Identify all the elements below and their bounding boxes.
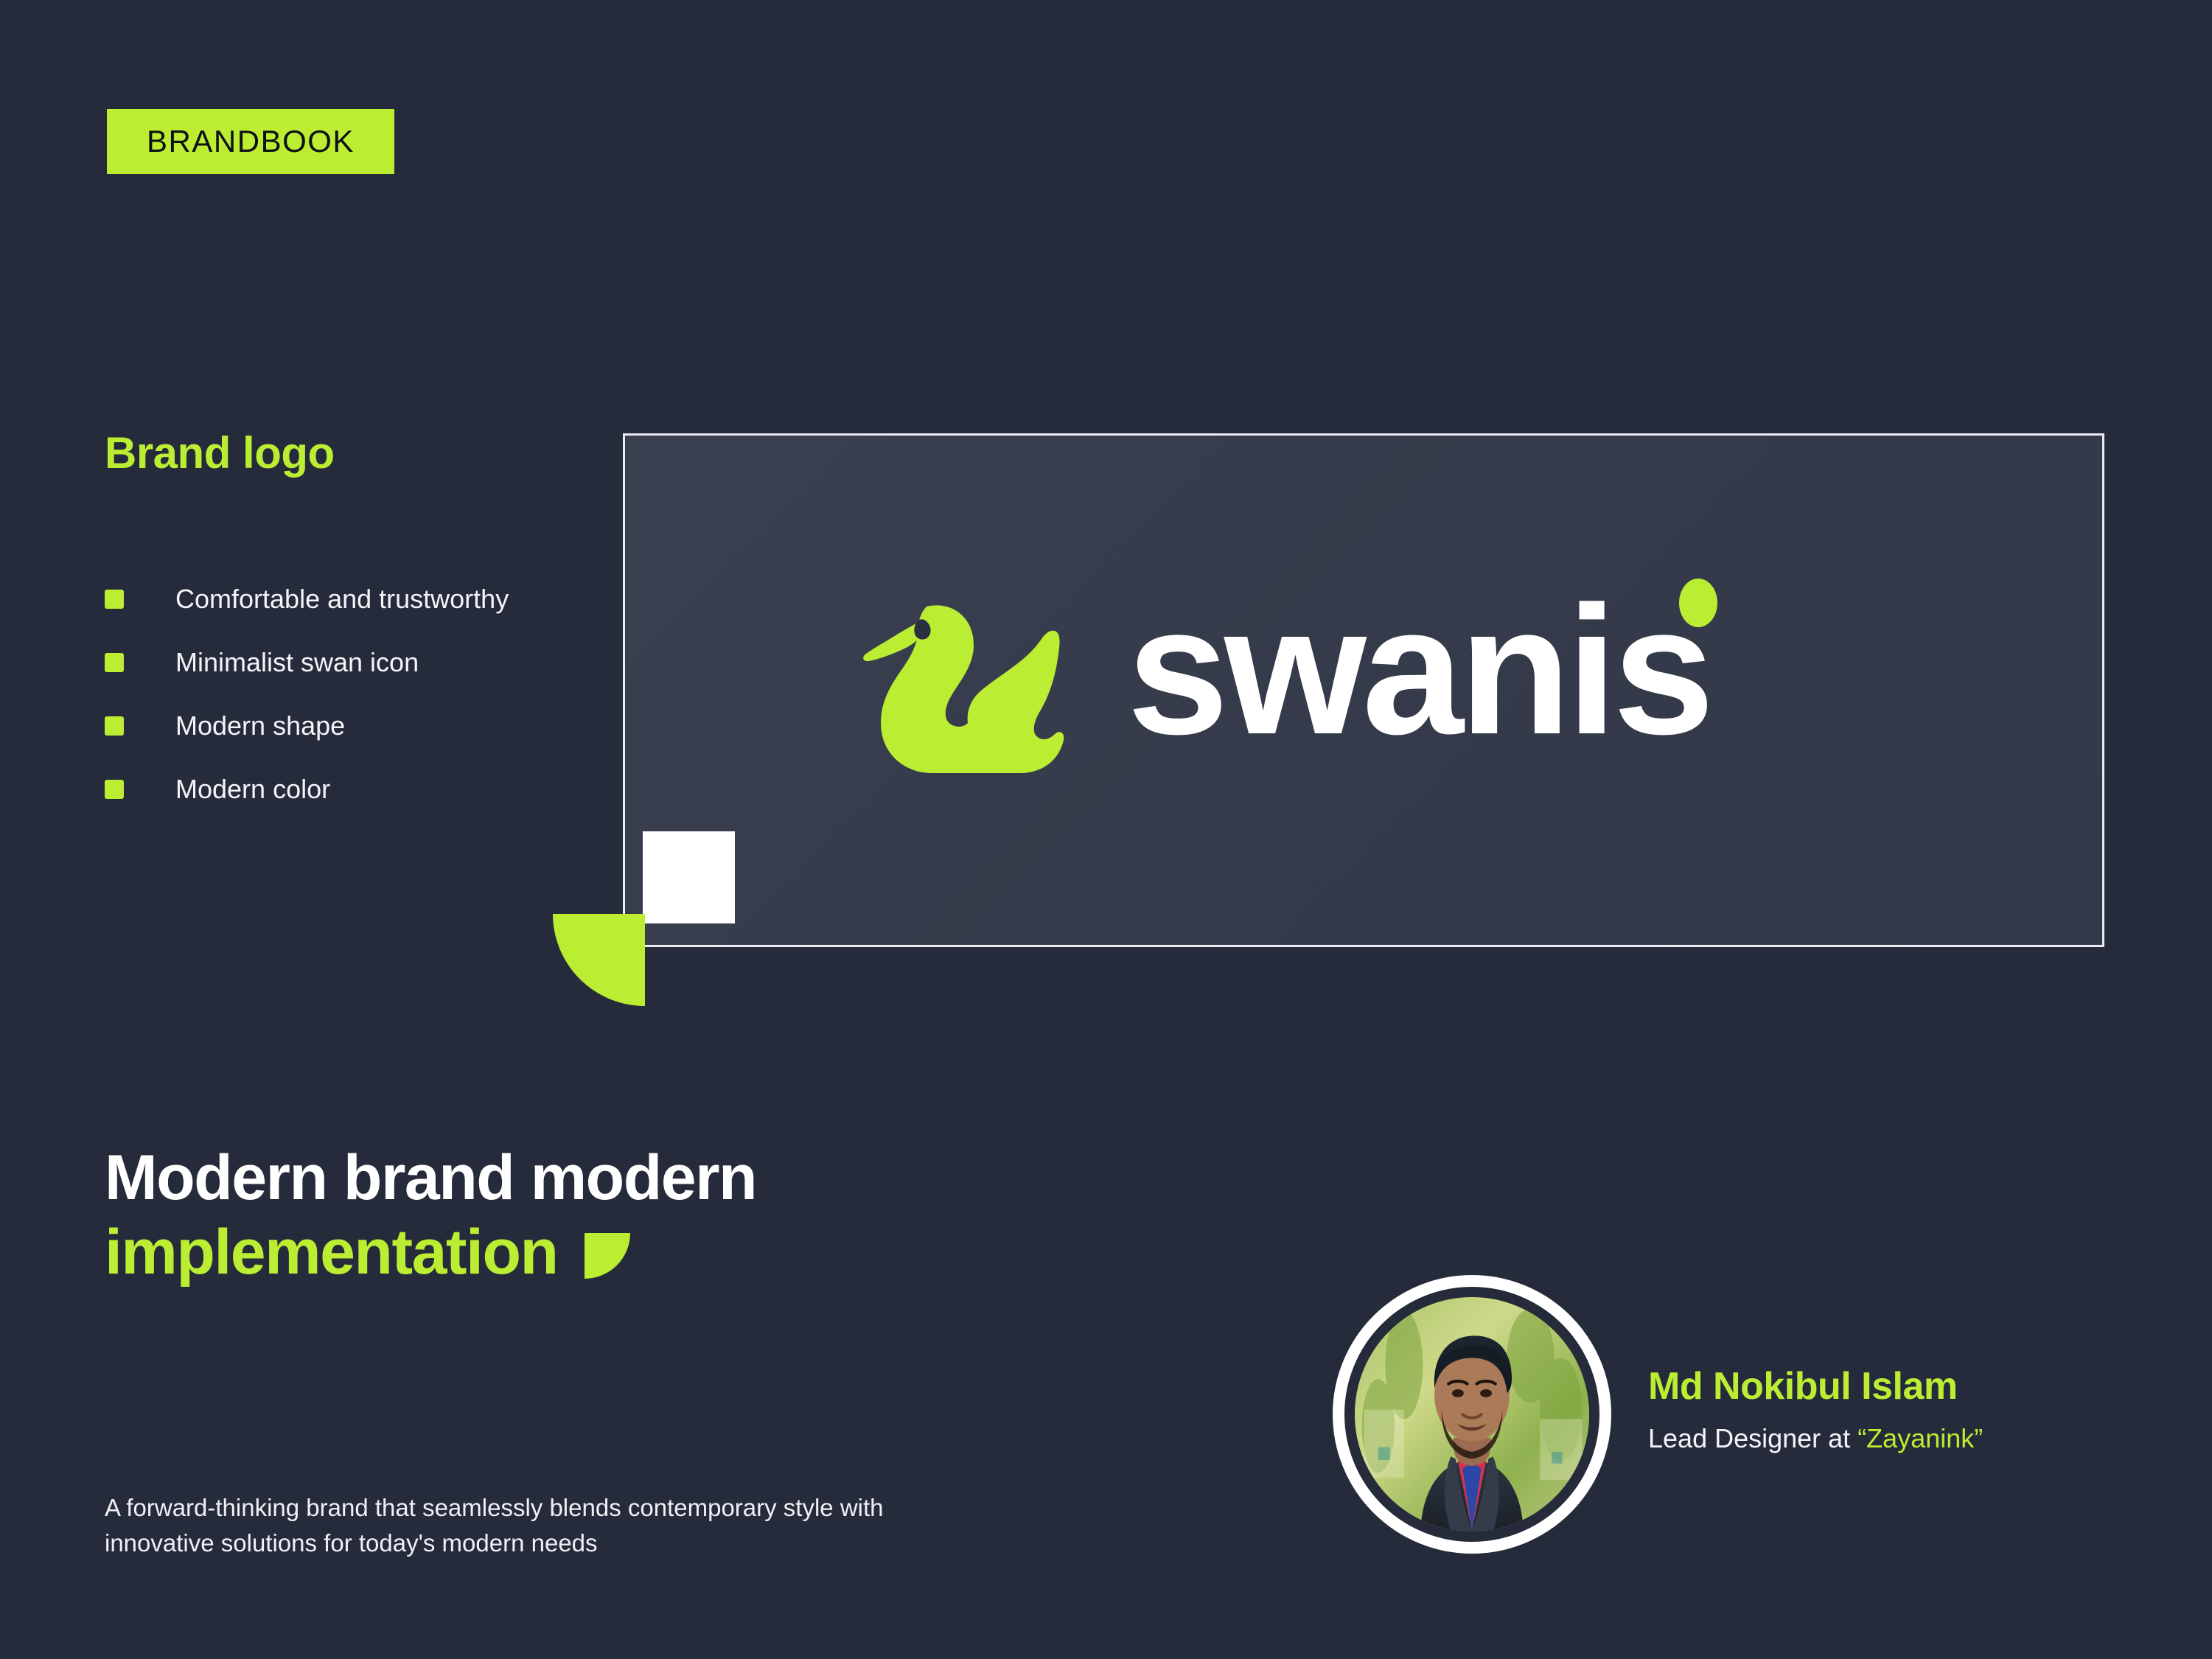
headline-line-two-text: implementation [105,1215,558,1290]
avatar [1333,1275,1611,1554]
author-role-prefix: Lead Designer at [1648,1423,1857,1453]
author-text: Md Nokibul Islam Lead Designer at “Zayan… [1648,1365,1983,1464]
logo-showcase-frame: swanis [623,433,2104,947]
wordmark-swanis: swanis [1127,562,1871,812]
brandbook-badge-label: BRANDBOOK [147,126,355,157]
description-text: A forward-thinking brand that seamlessly… [105,1490,974,1561]
list-item-label: Modern shape [175,713,345,739]
accent-quarter-circle-shape [553,914,645,1006]
brandbook-badge: BRANDBOOK [107,109,394,174]
svg-text:swanis: swanis [1127,567,1710,772]
list-item: Minimalist swan icon [105,631,576,694]
list-item: Modern shape [105,694,576,758]
author-profile: Md Nokibul Islam Lead Designer at “Zayan… [1333,1275,1983,1554]
brand-logo-heading: Brand logo [105,431,335,475]
swan-icon [856,593,1092,781]
accent-square-shape [643,831,735,923]
leaf-accent-icon [585,1233,630,1279]
page-title: Modern brand modern implementation [105,1141,756,1290]
list-item-label: Modern color [175,776,330,803]
brandbook-slide: BRANDBOOK Brand logo Comfortable and tru… [0,0,2212,1659]
list-item: Comfortable and trustworthy [105,567,576,631]
bullet-square-icon [105,653,124,672]
headline-line-two: implementation [105,1215,756,1290]
brand-logo-feature-list: Comfortable and trustworthy Minimalist s… [105,567,576,821]
list-item: Modern color [105,758,576,821]
logo-lockup: swanis [625,436,2102,945]
list-item-label: Minimalist swan icon [175,649,419,676]
bullet-square-icon [105,590,124,609]
wordmark-glyphs: swanis [1127,562,1871,783]
headline-line-one: Modern brand modern [105,1141,756,1215]
author-company: “Zayanink” [1857,1423,1983,1453]
list-item-label: Comfortable and trustworthy [175,586,509,612]
bullet-square-icon [105,716,124,736]
bullet-square-icon [105,780,124,799]
author-role: Lead Designer at “Zayanink” [1648,1425,1983,1452]
author-name: Md Nokibul Islam [1648,1365,1983,1409]
avatar-photo [1355,1297,1589,1531]
